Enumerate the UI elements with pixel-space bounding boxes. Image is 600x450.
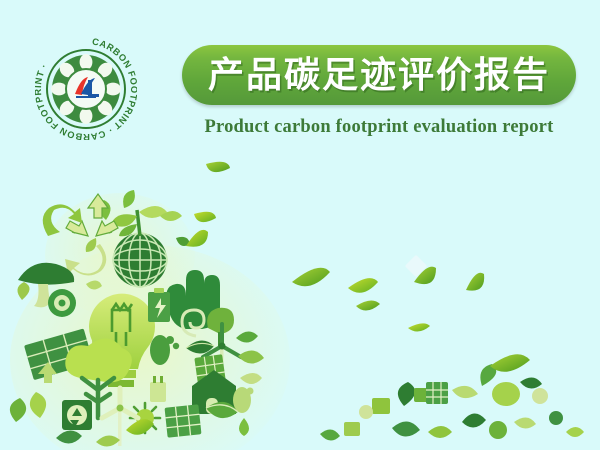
report-header: CARBON FOOTPRINT · CARBON FOOTPRINT · bbox=[0, 0, 600, 160]
eco-icon-footprint-collage bbox=[0, 150, 600, 450]
hand-icon bbox=[48, 289, 76, 317]
eco-icon-cluster-right bbox=[320, 364, 584, 441]
solar-panel-icon bbox=[165, 404, 202, 437]
report-title-banner: 产品碳足迹评价报告 bbox=[182, 45, 576, 105]
report-subtitle: Product carbon footprint evaluation repo… bbox=[182, 117, 576, 138]
recycle-icon bbox=[62, 400, 92, 430]
carbon-footprint-seal: CARBON FOOTPRINT · CARBON FOOTPRINT · bbox=[35, 38, 137, 140]
seal-center-monogram bbox=[66, 69, 106, 109]
slide-canvas: CARBON FOOTPRINT · CARBON FOOTPRINT · bbox=[0, 0, 600, 450]
page-title: 产品碳足迹评价报告 bbox=[208, 57, 550, 93]
battery-icon bbox=[148, 288, 170, 322]
globe-icon bbox=[113, 233, 167, 287]
